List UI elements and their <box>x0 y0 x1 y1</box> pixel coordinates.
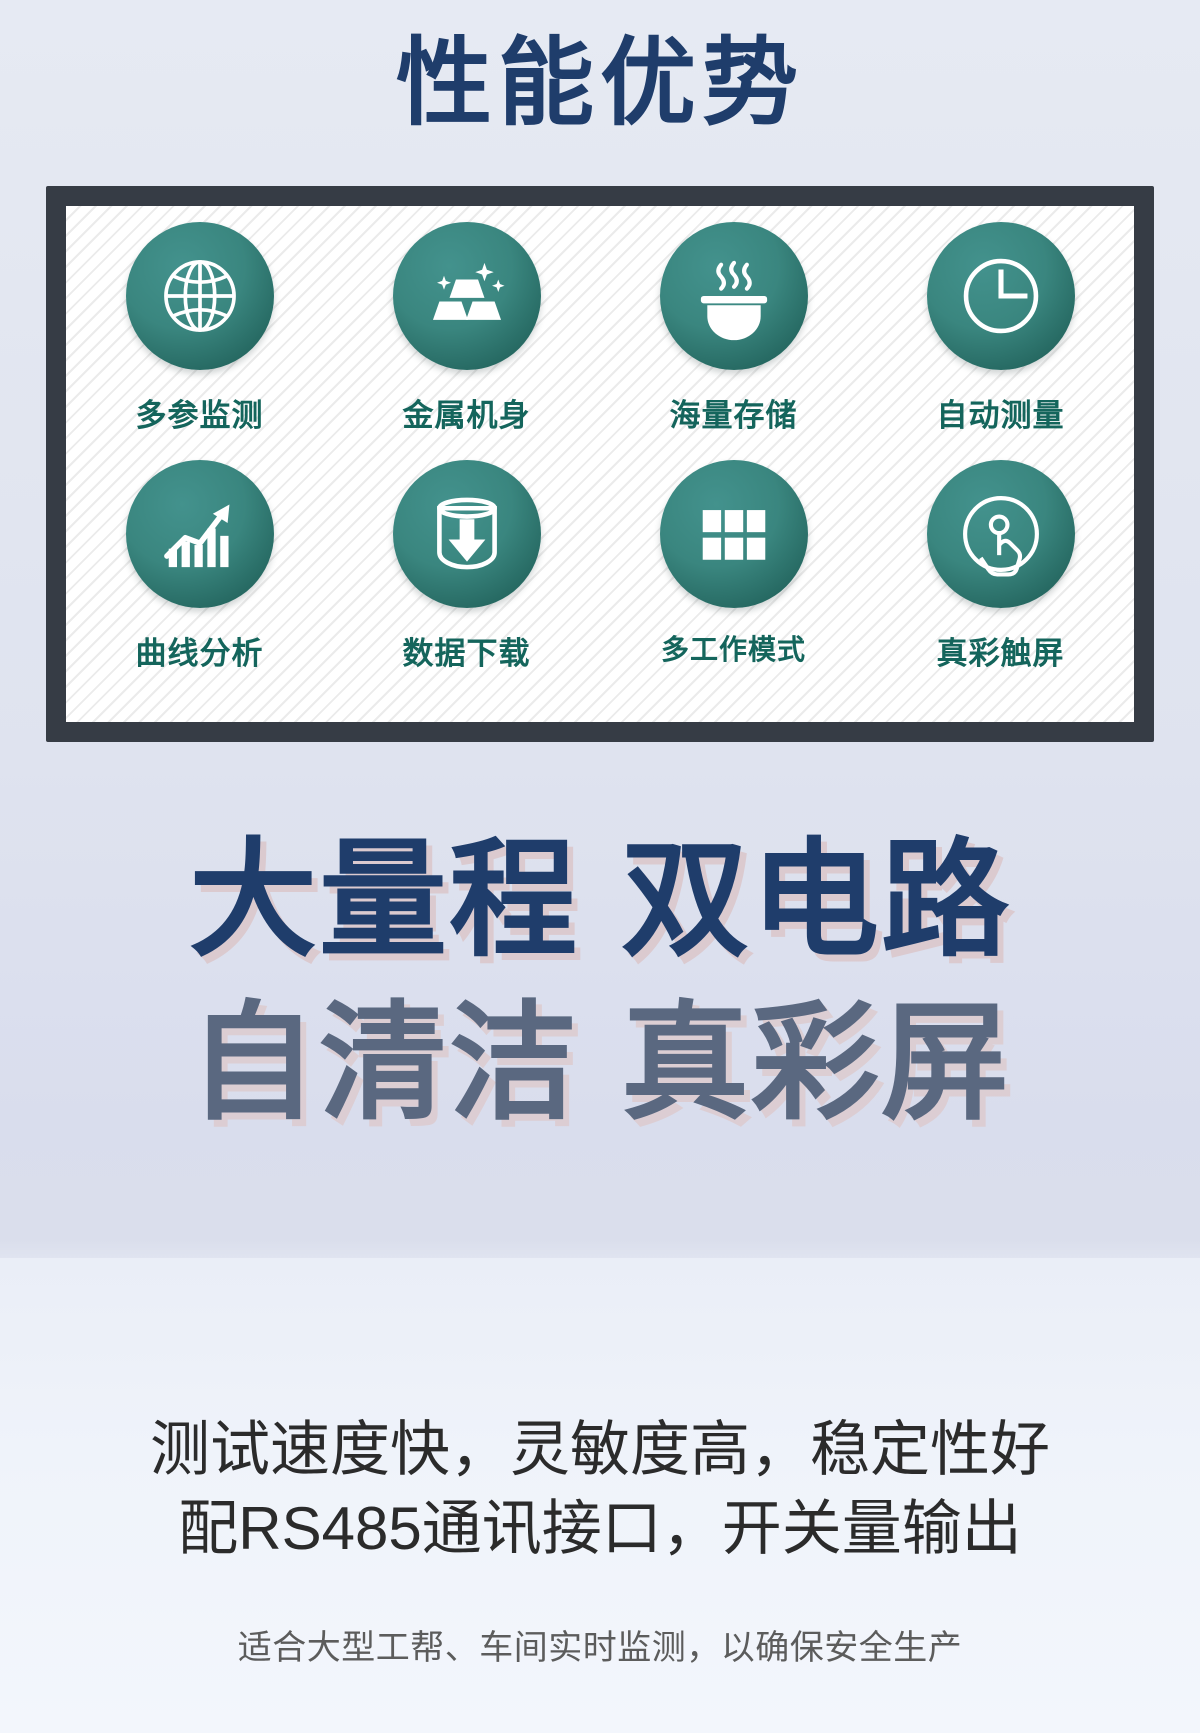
steaming-pot-icon <box>660 222 808 370</box>
grid-icon <box>660 460 808 608</box>
page-title-container: 性能优势 <box>0 34 1200 135</box>
footnote-text: 适合大型工帮、车间实时监测，以确保安全生产 <box>0 1620 1200 1669</box>
feature-item-curve-analysis[interactable]: 曲线分析 <box>66 460 333 698</box>
bottom-line-1: 测试速度快，灵敏度高，稳定性好 <box>0 1410 1200 1489</box>
feature-label: 多工作模式 <box>661 628 806 668</box>
feature-item-multi-param[interactable]: 多参监测 <box>66 222 333 460</box>
feature-item-data-download[interactable]: 数据下载 <box>333 460 600 698</box>
feature-label: 自动测量 <box>937 390 1065 435</box>
feature-row: 曲线分析 数据下载 <box>66 460 1134 698</box>
bottom-description: 测试速度快，灵敏度高，稳定性好 配RS485通讯接口，开关量输出 <box>0 1410 1200 1568</box>
feature-label: 曲线分析 <box>136 628 264 673</box>
feature-item-metal-body[interactable]: 金属机身 <box>333 222 600 460</box>
headline-line-1-part-1: 大量程 <box>189 829 579 972</box>
headline-line-2-part-1: 自清洁 <box>189 992 579 1135</box>
headline-line-1: 大量程双电路 <box>0 820 1200 983</box>
headline-line-1-part-2: 双电路 <box>621 829 1011 972</box>
touch-screen-icon <box>927 460 1075 608</box>
feature-item-auto-measure[interactable]: 自动测量 <box>867 222 1134 460</box>
growth-chart-icon <box>126 460 274 608</box>
headline-line-2: 自清洁真彩屏 <box>0 983 1200 1146</box>
feature-panel-inner: 多参监测 <box>66 206 1134 722</box>
feature-item-color-touchscreen[interactable]: 真彩触屏 <box>867 460 1134 698</box>
feature-label: 金属机身 <box>403 390 531 435</box>
clock-icon <box>927 222 1075 370</box>
promo-page: 性能优势 <box>0 0 1200 1733</box>
feature-item-mass-storage[interactable]: 海量存储 <box>600 222 867 460</box>
globe-icon <box>126 222 274 370</box>
feature-row: 多参监测 <box>66 222 1134 460</box>
page-title: 性能优势 <box>396 34 804 135</box>
feature-label: 真彩触屏 <box>937 628 1065 673</box>
headline-block: 大量程双电路 自清洁真彩屏 <box>0 820 1200 1145</box>
headline-line-2-part-2: 真彩屏 <box>621 992 1011 1135</box>
bottom-line-2: 配RS485通讯接口，开关量输出 <box>0 1489 1200 1568</box>
feature-label: 海量存储 <box>670 390 798 435</box>
feature-label: 数据下载 <box>403 628 531 673</box>
feature-item-multi-mode[interactable]: 多工作模式 <box>600 460 867 698</box>
feature-label: 多参监测 <box>136 390 264 435</box>
download-icon <box>393 460 541 608</box>
gold-bars-icon <box>393 222 541 370</box>
feature-panel: 多参监测 <box>46 186 1154 742</box>
